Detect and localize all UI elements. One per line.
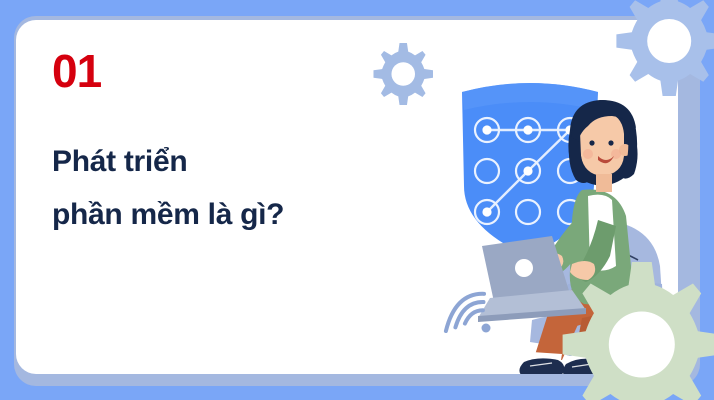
gear-icon [556, 262, 714, 400]
gear-icon [612, 0, 714, 96]
page-title: Phát triển phần mềm là gì? [52, 136, 382, 241]
person-head [568, 100, 637, 192]
slide-canvas: 01 Phát triển phần mềm là gì? [0, 0, 714, 400]
heading-line-2: phần mềm là gì? [52, 189, 382, 242]
slide-number: 01 [52, 48, 382, 94]
text-block: 01 Phát triển phần mềm là gì? [52, 48, 382, 241]
heading-line-1: Phát triển [52, 136, 382, 189]
